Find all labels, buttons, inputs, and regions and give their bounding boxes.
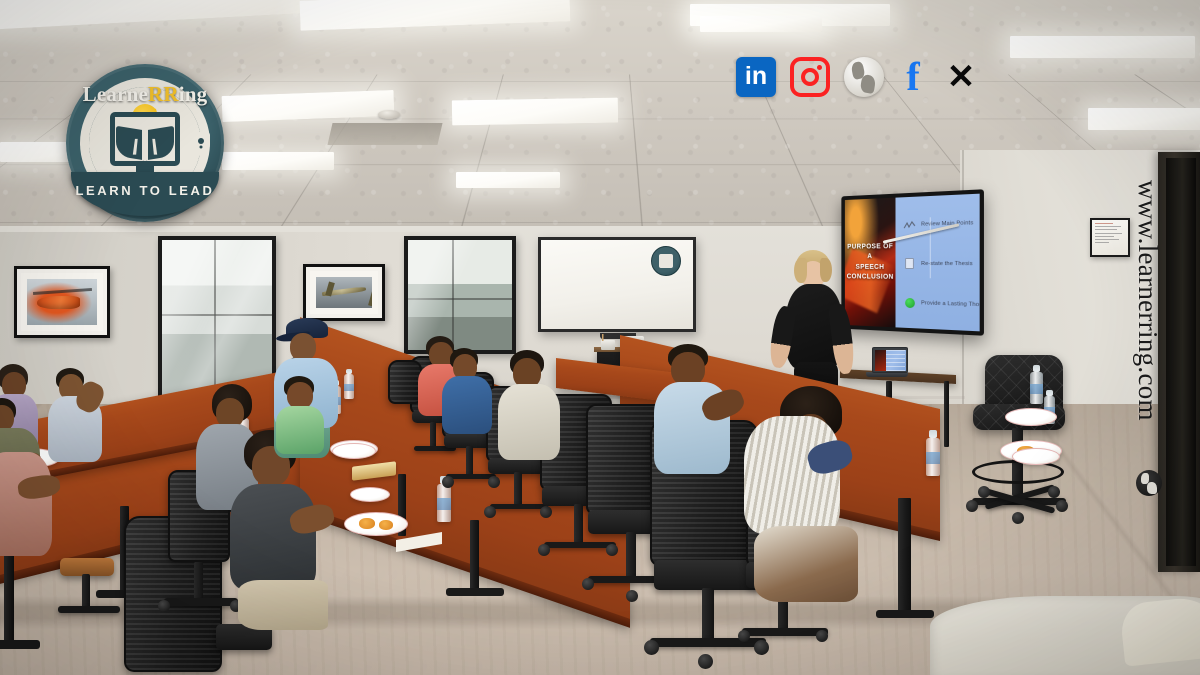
globe-icon[interactable] bbox=[844, 57, 884, 97]
drafting-stool-footring bbox=[972, 460, 1064, 484]
student-torso bbox=[276, 406, 324, 454]
smoke-detector-icon bbox=[378, 110, 400, 119]
paper-plate bbox=[332, 443, 376, 459]
led-panel-light bbox=[1088, 108, 1200, 130]
water-bottle bbox=[1030, 372, 1043, 404]
student bbox=[654, 344, 738, 474]
paper-plate bbox=[1005, 408, 1057, 426]
chair-caster bbox=[442, 476, 454, 488]
student-torso bbox=[312, 340, 356, 404]
slide-bullets-panel: Review Main Points Re-state the Thesis P… bbox=[896, 194, 980, 332]
student-torso bbox=[0, 452, 52, 556]
stool-caster bbox=[978, 486, 990, 498]
slide-divider bbox=[930, 217, 931, 278]
photo-art bbox=[316, 277, 372, 308]
chair-caster bbox=[626, 590, 638, 602]
book-pages bbox=[133, 139, 157, 155]
helicopter-photo bbox=[14, 266, 110, 338]
student-torso bbox=[498, 384, 560, 460]
student bbox=[46, 368, 110, 468]
door-panel[interactable] bbox=[1166, 158, 1196, 566]
chair-base bbox=[164, 598, 238, 606]
chair-post bbox=[430, 422, 436, 448]
food-item bbox=[359, 518, 375, 529]
chair-caster bbox=[582, 578, 594, 590]
presenter-desk-leg bbox=[944, 381, 949, 447]
stool-caster bbox=[1056, 500, 1068, 512]
led-panel-light bbox=[1010, 36, 1195, 58]
table-foot bbox=[446, 588, 504, 596]
student bbox=[312, 340, 358, 406]
instagram-icon[interactable] bbox=[790, 57, 830, 97]
document-icon bbox=[903, 257, 916, 270]
student-head bbox=[671, 352, 705, 386]
scribble-icon bbox=[903, 219, 916, 232]
framed-certificate bbox=[1090, 218, 1130, 257]
presenter-hair-side bbox=[820, 258, 832, 282]
student-torso bbox=[230, 484, 316, 590]
chair-post bbox=[514, 472, 522, 506]
ceiling-vent bbox=[327, 123, 442, 145]
pencil-cup bbox=[601, 340, 615, 350]
certificate-line bbox=[1095, 239, 1119, 240]
chair-post bbox=[702, 588, 714, 642]
student-legs bbox=[754, 526, 858, 602]
table-foot bbox=[0, 640, 40, 649]
led-panel-light bbox=[456, 172, 560, 188]
chair-post bbox=[82, 574, 90, 610]
logo-wordmark: LearneRRing bbox=[66, 82, 224, 107]
chair-caster bbox=[644, 640, 659, 655]
student bbox=[496, 350, 564, 460]
certificate-line bbox=[1095, 229, 1117, 230]
green-dot-icon bbox=[903, 296, 916, 309]
student-head bbox=[287, 382, 313, 409]
website-url-watermark: www.learnerring.com bbox=[1132, 180, 1163, 421]
food-item bbox=[379, 520, 393, 530]
chair-base bbox=[58, 606, 120, 613]
certificate-line bbox=[1095, 233, 1122, 234]
chair-caster bbox=[538, 544, 550, 556]
stool-caster bbox=[1012, 512, 1024, 524]
slide-bullet-text: Provide a Lasting Thought bbox=[921, 300, 984, 308]
osprey-aircraft-photo bbox=[303, 264, 385, 321]
certificate-line bbox=[1095, 236, 1114, 237]
student-torso bbox=[862, 344, 910, 408]
student bbox=[440, 348, 496, 434]
chair-post bbox=[574, 504, 583, 544]
x-twitter-icon[interactable]: ✕ bbox=[942, 57, 980, 97]
wall-mounted-tv: PURPOSE OF A SPEECH CONCLUSION Review Ma… bbox=[841, 189, 984, 336]
chair-caster bbox=[158, 600, 170, 612]
paper-plate bbox=[1012, 448, 1060, 465]
learnerring-logo: LearneRRing LEARN TO LEAD bbox=[66, 64, 224, 222]
table-foot bbox=[876, 610, 934, 618]
stool-caster bbox=[966, 500, 978, 512]
table-leg bbox=[470, 520, 479, 592]
photo-art bbox=[27, 279, 97, 325]
chair-post bbox=[626, 532, 636, 578]
chair-caster bbox=[484, 506, 496, 518]
tv-screen: PURPOSE OF A SPEECH CONCLUSION Review Ma… bbox=[845, 194, 980, 332]
whiteboard bbox=[538, 237, 696, 332]
led-panel-light bbox=[452, 98, 618, 126]
network-node-icon bbox=[80, 134, 100, 156]
student-legs bbox=[238, 580, 328, 630]
led-panel-light bbox=[222, 152, 334, 170]
classroom-photo-scene: PURPOSE OF A SPEECH CONCLUSION Review Ma… bbox=[0, 0, 1200, 675]
certificate-line bbox=[1095, 242, 1109, 243]
chair-post bbox=[194, 562, 203, 602]
paper-plate bbox=[344, 512, 408, 536]
led-panel-light bbox=[700, 16, 822, 32]
doorway[interactable] bbox=[1158, 152, 1200, 572]
stool-caster bbox=[1048, 486, 1060, 498]
slide-bullet: Re-state the Thesis bbox=[903, 257, 973, 271]
social-icons-bar: in f ✕ bbox=[736, 57, 980, 97]
window-glare bbox=[408, 240, 512, 350]
presenter-hair-side bbox=[794, 258, 807, 283]
logo-banner-text: LEARN TO LEAD bbox=[71, 183, 219, 198]
student bbox=[862, 344, 912, 410]
globe-icon bbox=[1136, 470, 1162, 496]
learnerring-logo-sticker bbox=[651, 246, 681, 276]
office-chair[interactable] bbox=[60, 480, 150, 630]
shield-icon bbox=[191, 132, 210, 155]
certificate-line bbox=[1095, 226, 1121, 227]
slide-bullet: Provide a Lasting Thought bbox=[903, 296, 973, 311]
linkedin-icon[interactable]: in bbox=[736, 57, 776, 97]
chair-caster bbox=[698, 654, 713, 669]
paper-plate bbox=[350, 487, 390, 502]
certificate-line bbox=[1095, 223, 1113, 224]
chair-post bbox=[466, 446, 473, 476]
student-torso bbox=[442, 376, 492, 434]
student bbox=[0, 452, 60, 572]
facebook-icon[interactable]: f bbox=[898, 57, 928, 97]
table-leg bbox=[898, 498, 911, 616]
